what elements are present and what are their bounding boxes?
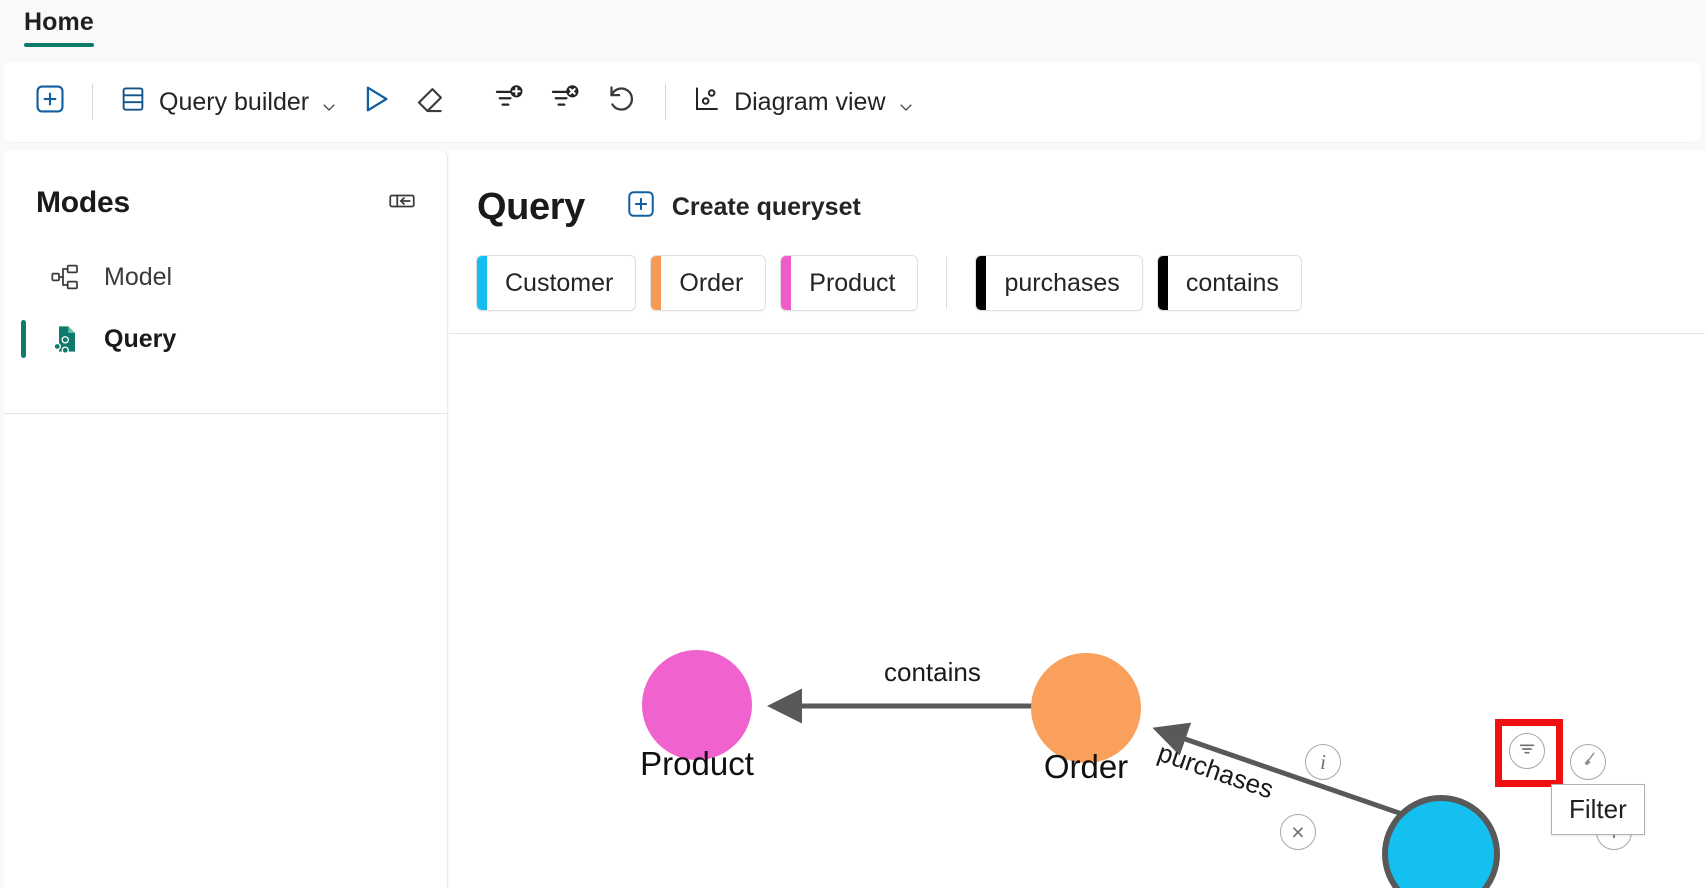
relation-chip-accent [1158,256,1168,310]
chip-row-divider [449,333,1705,334]
add-filter-button[interactable] [481,76,537,128]
undo-button[interactable] [593,76,651,128]
diagram-view-label: Diagram view [734,88,885,117]
query-builder-label: Query builder [159,88,309,117]
sidebar-item-model[interactable]: Model [28,246,427,308]
graph-edge-label-contains: contains [884,657,981,688]
node-label-text: Product [640,745,754,782]
add-square-icon [625,188,657,227]
remove-filter-button[interactable] [537,76,593,128]
main-header: Query Create queryset [449,150,1705,233]
model-hierarchy-icon [48,260,82,294]
collapse-panel-button[interactable] [385,186,419,220]
sidebar-header: Modes [4,150,447,220]
node-info-button[interactable]: i [1305,744,1341,780]
tab-home-label: Home [24,8,94,36]
node-filter-button[interactable] [1509,733,1545,769]
command-toolbar: Query builder [4,62,1701,142]
graph-node-product[interactable] [642,650,752,760]
relation-chip-contains[interactable]: contains [1157,255,1302,311]
toolbar-divider-1 [92,84,93,120]
filter-remove-icon [548,82,582,123]
undo-arrow-icon [604,81,640,124]
play-triangle-icon [358,82,392,123]
chip-group-divider [946,257,947,309]
entity-chip-product[interactable]: Product [780,255,918,311]
node-remove-button[interactable]: × [1280,814,1316,850]
sidebar-empty-area [4,414,448,888]
query-builder-button[interactable]: Query builder [107,76,347,128]
toolbar-divider-2 [665,84,666,120]
chevron-down-icon [897,94,913,110]
create-queryset-label: Create queryset [672,193,861,222]
relation-chip-label: contains [1168,256,1301,310]
add-square-icon [33,82,67,123]
entity-chip-customer[interactable]: Customer [476,255,636,311]
info-circle-icon: i [1320,750,1326,775]
sidebar-item-model-label: Model [104,263,172,292]
filter-circle-icon [1516,738,1538,765]
sidebar-title: Modes [36,186,130,220]
edge-label-text: contains [884,657,981,687]
graph-node-label-order: Order [1044,748,1128,786]
eraser-icon [414,82,448,123]
entity-chip-label: Product [791,256,917,310]
entity-chip-accent [781,256,791,310]
relation-chip-label: purchases [986,256,1141,310]
create-queryset-button[interactable]: Create queryset [615,182,871,233]
relation-chip-accent [976,256,986,310]
node-label-text: Order [1044,748,1128,785]
clear-results-button[interactable] [403,76,459,128]
graph-node-label-product: Product [640,745,754,783]
run-query-button[interactable] [347,76,403,128]
sidebar-selection-indicator [21,320,26,358]
graph-svg [449,357,1705,888]
tab-active-underline [24,43,94,47]
relation-chip-purchases[interactable]: purchases [975,255,1142,311]
entity-chip-order[interactable]: Order [650,255,766,311]
filter-tooltip: Filter [1551,784,1645,835]
scatter-plot-icon [691,83,723,122]
entity-chip-accent [651,256,661,310]
tooltip-text: Filter [1569,794,1627,824]
page-title: Query [477,186,585,229]
app-body: Modes [0,150,1705,888]
paint-brush-icon [1578,749,1599,775]
graph-canvas[interactable]: contains purchases Product Order Custome… [449,357,1705,888]
node-style-button[interactable] [1570,744,1606,780]
new-item-button[interactable] [22,76,78,128]
entity-chip-accent [477,256,487,310]
filter-add-icon [492,82,526,123]
entity-chip-label: Customer [487,256,635,310]
query-document-icon [48,322,82,356]
collapse-panel-icon [387,186,417,221]
graph-node-order[interactable] [1031,653,1141,763]
query-chip-row: Customer Order Product purchases contain… [449,233,1705,311]
chevron-down-icon [320,94,336,110]
close-circle-icon: × [1291,821,1304,844]
table-icon [118,84,148,121]
entity-chip-label: Order [661,256,765,310]
tab-home[interactable]: Home [12,0,106,37]
sidebar-item-query[interactable]: Query [28,308,427,370]
diagram-view-button[interactable]: Diagram view [680,76,923,128]
ribbon-tabstrip: Home [0,0,1705,62]
graph-node-customer[interactable] [1385,798,1497,888]
sidebar-item-query-label: Query [104,325,176,354]
modes-sidebar: Modes [4,150,448,414]
main-content: Query Create queryset Customer Or [449,150,1705,888]
